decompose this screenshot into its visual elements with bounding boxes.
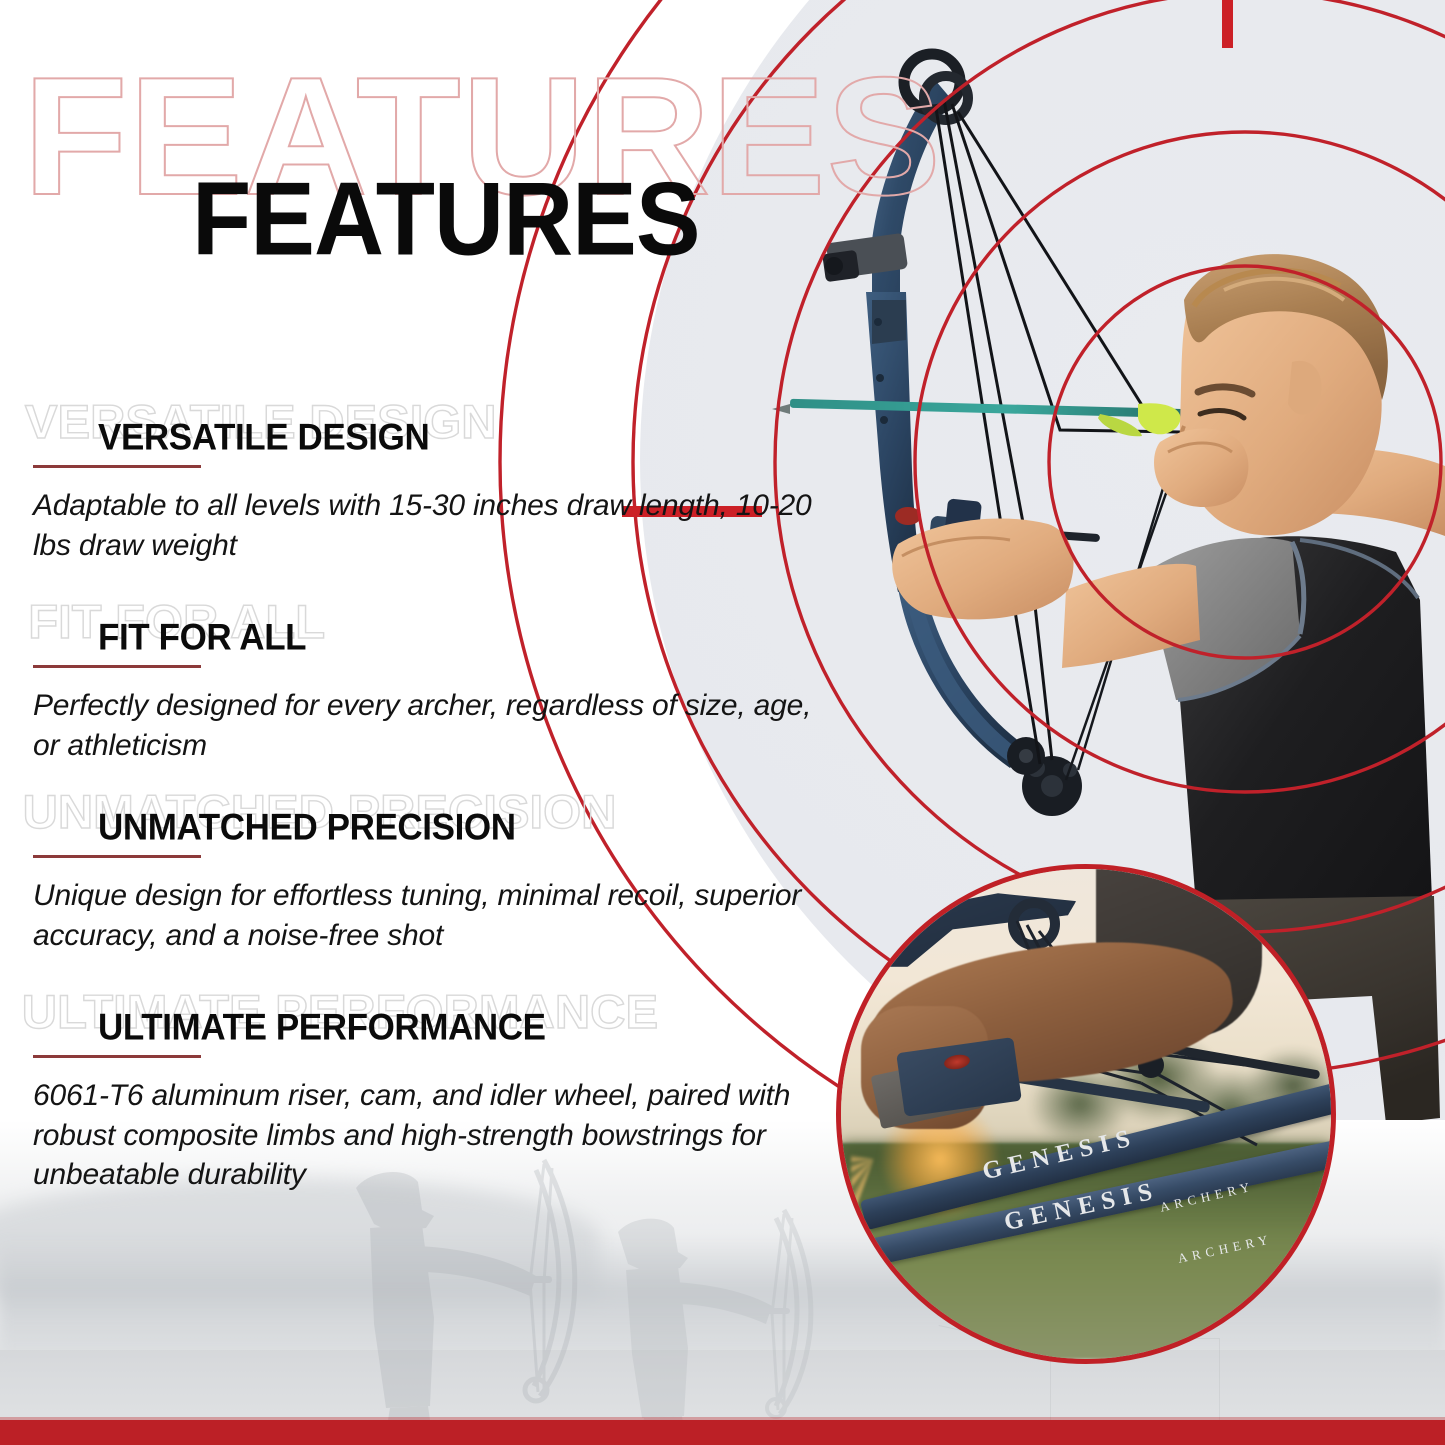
feature-description: Adaptable to all levels with 15-30 inche… bbox=[33, 486, 823, 565]
feature-underline bbox=[33, 855, 201, 858]
feature-heading: FIT FOR ALL bbox=[98, 619, 306, 656]
feature-underline bbox=[33, 665, 201, 668]
feature-underline bbox=[33, 465, 201, 468]
page-title: FEATURES bbox=[192, 167, 700, 271]
feature-heading: ULTIMATE PERFORMANCE bbox=[98, 1009, 546, 1046]
inset-closeup-photo: GENESIS ARCHERY GENESIS ARCHERY bbox=[836, 864, 1336, 1364]
feature-description: Perfectly designed for every archer, reg… bbox=[33, 686, 823, 765]
feature-description: Unique design for effortless tuning, min… bbox=[33, 876, 823, 955]
feature-heading: VERSATILE DESIGN bbox=[98, 419, 429, 456]
feature-underline bbox=[33, 1055, 201, 1058]
crosshair-tick-vertical bbox=[1222, 0, 1233, 48]
feature-description: 6061-T6 aluminum riser, cam, and idler w… bbox=[33, 1076, 823, 1195]
content-column: FEATURES FEATURES VERSATILE DESIGN VERSA… bbox=[0, 0, 840, 1445]
infographic-canvas: GENESIS ARCHERY GENESIS ARCHERY FEATURES… bbox=[0, 0, 1445, 1445]
page-title-block: FEATURES FEATURES bbox=[0, 52, 840, 262]
feature-heading: UNMATCHED PRECISION bbox=[98, 809, 516, 846]
